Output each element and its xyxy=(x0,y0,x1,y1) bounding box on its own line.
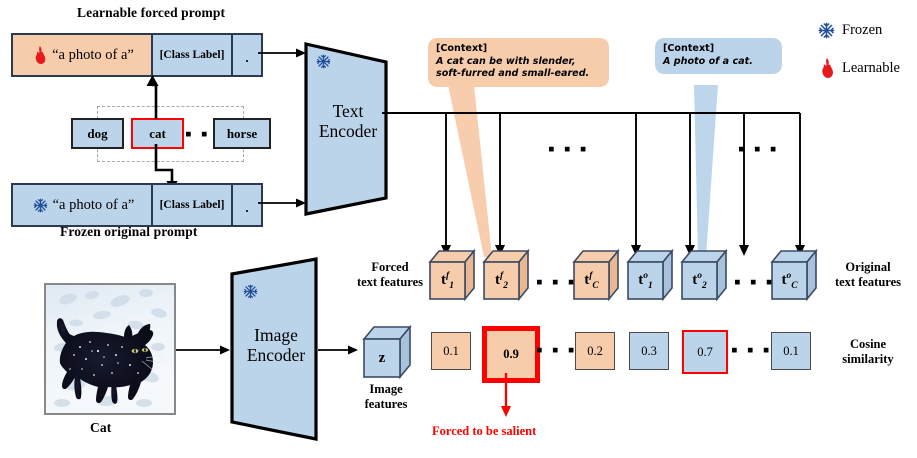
image-feature-cube[interactable]: z xyxy=(362,325,412,379)
forced-callout-header: [Context] xyxy=(436,43,602,56)
image-features-label-line1: Image xyxy=(348,382,424,397)
learnable-forced-prompt-box[interactable]: “a photo of a” [Class Label] . xyxy=(11,33,263,77)
original-text-feature-label-C: toC xyxy=(781,271,797,291)
original-text-feature-label-2: to2 xyxy=(692,271,707,291)
frozen-prompt-text: “a photo of a” xyxy=(53,197,135,214)
original-text-features-label-line2: text features xyxy=(826,275,910,290)
legend-item-learnable: Learnable xyxy=(818,58,900,78)
original-text-features-label: Original text features xyxy=(826,260,910,290)
frozen-prompt-to-encoder-arrow xyxy=(258,193,308,213)
forced-similarity-score-1[interactable]: 0.1 xyxy=(431,332,471,370)
original-callout-line1: A photo of a cat. xyxy=(663,56,775,69)
original-text-feature-cube-2[interactable]: to2 xyxy=(680,249,728,301)
learnable-prompt-title: Learnable forced prompt xyxy=(77,5,225,21)
forced-context-callout: [Context] A cat can be with slender, sof… xyxy=(428,38,609,87)
original-similarity-score-C[interactable]: 0.1 xyxy=(771,332,811,370)
forced-text-feature-cube-1[interactable]: tf1 xyxy=(428,249,476,301)
original-branch-ellipsis: ▪ ▪ ▪ xyxy=(738,140,779,159)
learnable-prompt-text-segment: “a photo of a” xyxy=(13,35,151,75)
forced-similarity-score-C[interactable]: 0.2 xyxy=(575,332,615,370)
forced-score-ellipsis: ▪ ▪ ▪ xyxy=(536,341,577,360)
image-encoder[interactable]: Image Encoder xyxy=(228,256,324,442)
forced-branch-ellipsis: ▪ ▪ ▪ xyxy=(548,140,589,159)
forced-text-features-label: Forced text features xyxy=(356,260,424,290)
class-label-horse[interactable]: horse xyxy=(213,118,271,149)
learnable-prompt-to-encoder-arrow xyxy=(258,43,308,63)
forced-text-feature-label-2: tf2 xyxy=(495,271,508,291)
image-features-label: Image features xyxy=(348,382,424,412)
forced-text-features-label-line1: Forced xyxy=(356,260,424,275)
original-context-callout: [Context] A photo of a cat. xyxy=(655,38,782,74)
snowflake-icon xyxy=(33,198,48,213)
forced-cube-ellipsis: ▪ ▪ ▪ xyxy=(536,273,577,292)
forced-callout-line1: A cat can be with slender, xyxy=(436,56,602,69)
encoder-to-image-feature-arrow xyxy=(318,340,360,360)
legend-item-frozen: Frozen xyxy=(818,22,882,39)
forced-text-feature-label-C: tfC xyxy=(584,271,599,291)
image-encoder-label-line1: Image xyxy=(228,326,324,346)
cosine-similarity-label: Cosine similarity xyxy=(826,337,910,367)
forced-text-features-label-line2: text features xyxy=(356,275,424,290)
forced-text-feature-cube-C[interactable]: tfC xyxy=(572,249,620,301)
flame-icon xyxy=(818,58,835,78)
image-encoder-label: Image Encoder xyxy=(228,326,324,365)
learnable-class-label-slot: [Class Label] xyxy=(151,35,231,75)
original-score-ellipsis: ▪ ▪ ▪ xyxy=(731,341,772,360)
forced-text-feature-cube-2[interactable]: tf2 xyxy=(482,249,530,301)
forced-salient-arrow xyxy=(496,373,518,419)
frozen-prompt-text-segment: “a photo of a” xyxy=(13,185,151,225)
learnable-period-slot: . xyxy=(231,35,261,75)
original-text-feature-cube-C[interactable]: toC xyxy=(770,249,818,301)
image-encoder-label-line2: Encoder xyxy=(228,346,324,366)
forced-callout-line2: soft-furred and small-eared. xyxy=(436,68,602,81)
original-text-feature-cube-1[interactable]: to1 xyxy=(626,249,674,301)
legend-label-learnable: Learnable xyxy=(842,60,900,77)
snowflake-icon xyxy=(316,54,331,69)
cosine-similarity-label-line2: similarity xyxy=(826,352,910,367)
forced-text-feature-label-1: tf1 xyxy=(441,271,454,291)
frozen-period-slot: . xyxy=(231,185,261,225)
cosine-similarity-label-line1: Cosine xyxy=(826,337,910,352)
frozen-class-label-slot: [Class Label] xyxy=(151,185,231,225)
class-label-dog[interactable]: dog xyxy=(71,118,124,149)
original-callout-header: [Context] xyxy=(663,43,775,56)
image-features-label-line2: features xyxy=(348,397,424,412)
input-cat-image[interactable] xyxy=(44,283,176,415)
snowflake-icon xyxy=(818,22,835,39)
original-text-feature-label-1: to1 xyxy=(638,271,653,291)
learnable-prompt-text: “a photo of a” xyxy=(52,47,134,64)
original-similarity-score-2-highlighted[interactable]: 0.7 xyxy=(682,330,728,374)
frozen-original-prompt-box[interactable]: “a photo of a” [Class Label] . xyxy=(11,183,263,227)
cat-image-caption: Cat xyxy=(90,420,111,436)
forced-salient-annotation: Forced to be salient xyxy=(432,424,536,439)
original-similarity-score-1[interactable]: 0.3 xyxy=(629,332,669,370)
snowflake-icon xyxy=(243,284,258,299)
original-text-features-label-line1: Original xyxy=(826,260,910,275)
cat-to-learnable-slot-arrow xyxy=(140,73,170,119)
original-cube-ellipsis: ▪ ▪ ▪ xyxy=(734,273,775,292)
legend-label-frozen: Frozen xyxy=(842,22,882,39)
text-feature-distribution-arrows xyxy=(380,108,880,258)
image-to-encoder-arrow xyxy=(176,340,232,360)
flame-icon xyxy=(32,46,47,64)
image-feature-symbol: z xyxy=(379,350,386,367)
